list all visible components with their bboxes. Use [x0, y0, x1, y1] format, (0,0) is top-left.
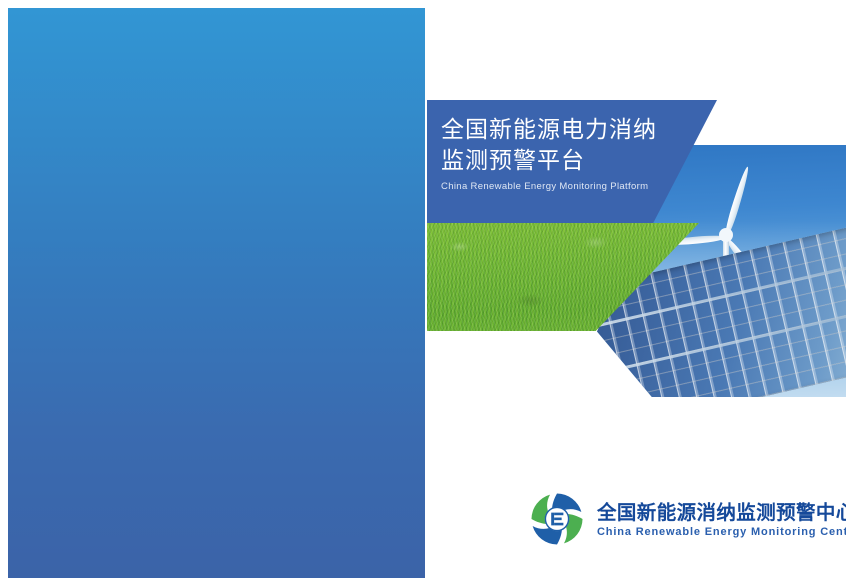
brochure-cover: 全国新能源电力消纳 监测预警平台 China Renewable Energy …: [0, 0, 854, 586]
front-cover-page: 全国新能源电力消纳 监测预警平台 China Renewable Energy …: [425, 8, 846, 578]
footer-branding: 全国新能源消纳监测预警中心 China Renewable Energy Mon…: [528, 490, 846, 548]
organization-name-cn: 全国新能源消纳监测预警中心: [597, 502, 846, 524]
page-subtitle: China Renewable Energy Monitoring Platfo…: [441, 181, 691, 192]
turbine-hub: [719, 228, 733, 242]
organization-name-group: 全国新能源消纳监测预警中心 China Renewable Energy Mon…: [597, 500, 846, 539]
page-title-line-2: 监测预警平台: [441, 145, 691, 176]
title-text-group: 全国新能源电力消纳 监测预警平台 China Renewable Energy …: [441, 114, 691, 192]
page-title-line-1: 全国新能源电力消纳: [441, 114, 691, 145]
organization-name-en: China Renewable Energy Monitoring Center: [597, 525, 846, 539]
back-cover-panel: [8, 8, 425, 578]
organization-logo-icon: [528, 490, 586, 548]
